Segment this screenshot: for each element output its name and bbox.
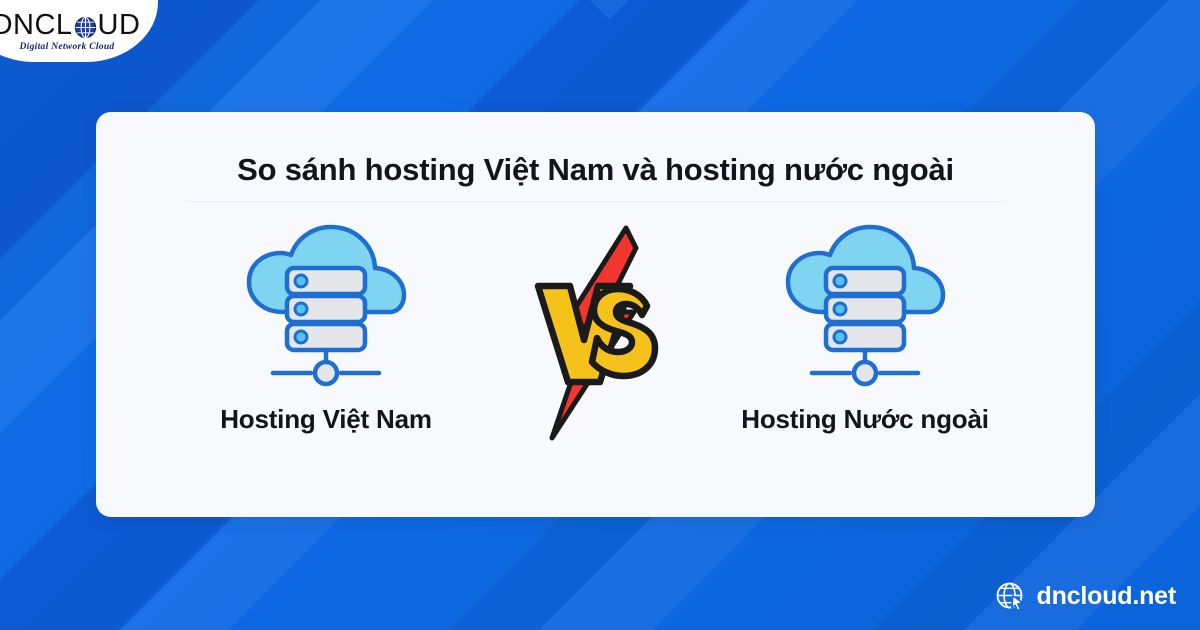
brand-logo-text-after: UD: [98, 11, 141, 40]
page-title: So sánh hosting Việt Nam và hosting nước…: [96, 152, 1095, 188]
lightning-bolt-vs-icon: [530, 224, 662, 442]
title-divider: [186, 201, 1005, 202]
comparison-label-right: Hosting Nước ngoài: [741, 404, 989, 435]
comparison-column-right: Hosting Nước ngoài: [669, 220, 1061, 435]
cloud-server-icon: [770, 220, 960, 390]
globe-cursor-icon: [995, 581, 1026, 612]
brand-logo-wordmark: DNCL UD: [0, 11, 140, 40]
footer-branding[interactable]: dncloud.net: [995, 581, 1176, 612]
brand-logo-text-before: DNCL: [0, 11, 73, 40]
poster-canvas: DNCL UD Digital Network Cloud So sánh ho…: [0, 0, 1200, 630]
comparison-column-left: Hosting Việt Nam: [130, 220, 522, 435]
comparison-label-left: Hosting Việt Nam: [220, 404, 432, 435]
comparison-card: So sánh hosting Việt Nam và hosting nước…: [96, 112, 1095, 517]
brand-tagline: Digital Network Cloud: [20, 42, 115, 52]
footer-website-label: dncloud.net: [1037, 582, 1176, 611]
globe-icon: [74, 16, 97, 39]
comparison-columns: Hosting Việt Nam: [96, 220, 1095, 442]
cloud-server-icon: [231, 220, 421, 390]
versus-badge: [522, 220, 669, 442]
